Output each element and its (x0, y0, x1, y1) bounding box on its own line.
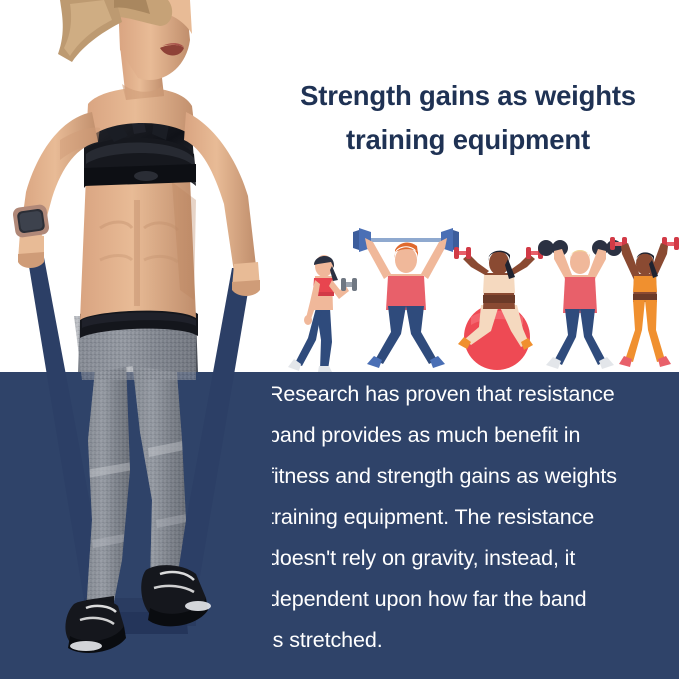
legs (554, 309, 606, 365)
head (394, 243, 418, 273)
torso (633, 274, 657, 302)
legs (295, 308, 332, 370)
body-line: training equipment. The resistance (268, 497, 676, 538)
legs (625, 300, 665, 362)
body-line: doesn't rely on gravity, instead, it (268, 538, 676, 579)
torso (563, 275, 597, 313)
head (570, 250, 590, 274)
left-hand (304, 315, 312, 325)
headline: Strength gains as weights training equip… (262, 74, 674, 162)
legs (375, 306, 437, 364)
body-line: fitness and strength gains as weights (268, 456, 676, 497)
body-line: band provides as much benefit in (268, 415, 676, 456)
body-paragraph: Research has proven that resistance band… (268, 374, 676, 661)
smart-watch (12, 204, 50, 238)
body-line: is stretched. (268, 620, 676, 661)
figure-arms-up-woman (609, 226, 679, 374)
model-photo (0, 0, 272, 679)
body-line: dependent upon how far the band (268, 579, 676, 620)
hips-leggings (70, 305, 206, 382)
figure-barbell-man (351, 222, 461, 374)
body-line: Research has proven that resistance (268, 374, 676, 415)
headline-line-1: Strength gains as weights (262, 74, 674, 118)
headline-line-2: training equipment (262, 118, 674, 162)
product-marketing-image: Strength gains as weights training equip… (0, 0, 679, 679)
figure-ball-woman (451, 239, 549, 374)
figure-dumbbell-woman (286, 246, 360, 374)
shoes (619, 356, 671, 367)
torso (386, 274, 426, 310)
shoes (546, 357, 614, 369)
illustration-strip (286, 214, 679, 374)
dumbbell-icon-left (454, 247, 471, 259)
torso (80, 165, 196, 320)
